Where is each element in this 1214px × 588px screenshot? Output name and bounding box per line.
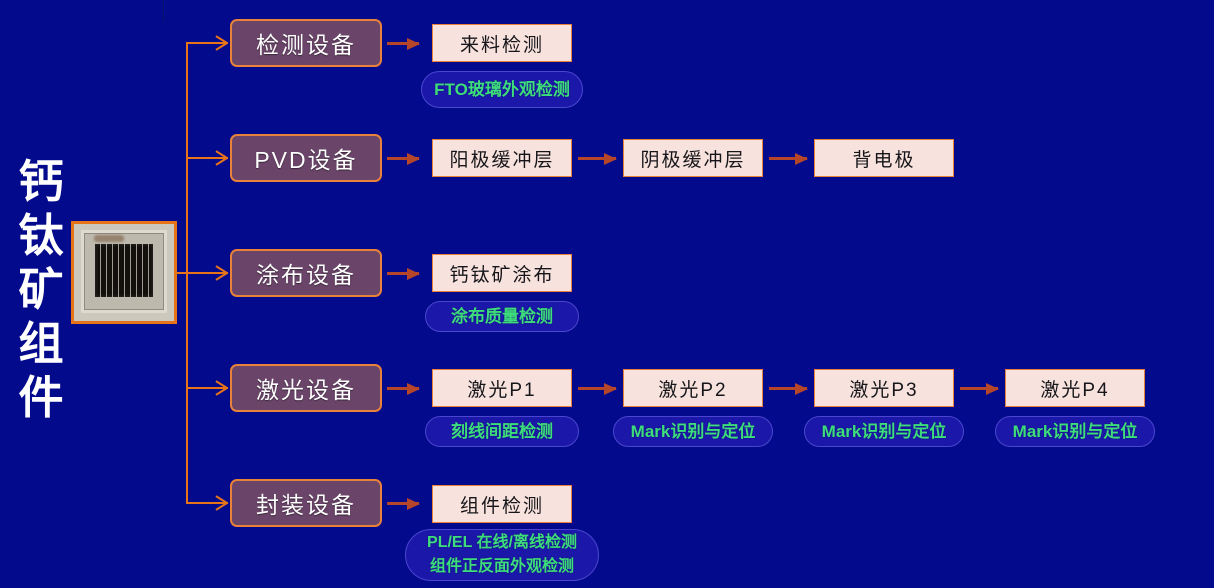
process-arrow-r2-0 <box>387 157 419 160</box>
page-title-char-1: 钙 <box>10 155 72 209</box>
process-arrow-r3-0 <box>387 272 419 275</box>
module-glass-pane <box>81 230 167 313</box>
equipment-box-inspection[interactable]: 检测设备 <box>230 19 382 67</box>
process-arrow-r4-0 <box>387 387 419 390</box>
branch-arrow-icon-4 <box>214 381 226 395</box>
process-box-r2-2[interactable]: 背电极 <box>814 139 954 177</box>
module-smudge <box>94 235 124 242</box>
process-arrow-r4-3 <box>960 387 998 390</box>
inspection-pill-r3-0[interactable]: 涂布质量检测 <box>425 301 579 332</box>
process-arrow-r5-0 <box>387 502 419 505</box>
process-arrow-r2-2 <box>769 157 807 160</box>
page-title-char-4: 组 <box>10 317 72 371</box>
equipment-box-pvd[interactable]: PVD设备 <box>230 134 382 182</box>
module-active-area <box>95 244 153 297</box>
diagram-canvas: 钙 钛 矿 组 件 检测设备 来料检测 FTO玻璃外观检测 PVD设备 阳极缓冲… <box>0 0 1214 588</box>
branch-arrow-icon-2 <box>214 151 226 165</box>
process-arrow-r2-1 <box>578 157 616 160</box>
top-hairline <box>163 0 164 22</box>
inspection-pill-r5-0[interactable]: PL/EL 在线/离线检测 组件正反面外观检测 <box>405 529 599 581</box>
process-box-r4-2[interactable]: 激光P3 <box>814 369 954 407</box>
process-arrow-r1-0 <box>387 42 419 45</box>
branch-arrow-icon-1 <box>214 36 226 50</box>
inspection-pill-r1-0[interactable]: FTO玻璃外观检测 <box>421 71 583 108</box>
inspection-pill-r4-3[interactable]: Mark识别与定位 <box>995 416 1155 447</box>
page-title: 钙 钛 矿 组 件 <box>10 155 72 425</box>
page-title-char-3: 矿 <box>10 263 72 317</box>
process-box-r5-0[interactable]: 组件检测 <box>432 485 572 523</box>
inspection-pill-r4-1[interactable]: Mark识别与定位 <box>613 416 773 447</box>
process-box-r3-0[interactable]: 钙钛矿涂布 <box>432 254 572 292</box>
perovskite-module-photo <box>71 221 177 324</box>
process-box-r4-1[interactable]: 激光P2 <box>623 369 763 407</box>
process-box-r2-1[interactable]: 阴极缓冲层 <box>623 139 763 177</box>
process-box-r4-3[interactable]: 激光P4 <box>1005 369 1145 407</box>
process-box-r4-0[interactable]: 激光P1 <box>432 369 572 407</box>
page-title-char-2: 钛 <box>10 209 72 263</box>
process-arrow-r4-1 <box>578 387 616 390</box>
branch-arrow-icon-3 <box>214 266 226 280</box>
module-scribe-lines <box>95 244 153 297</box>
page-title-char-5: 件 <box>10 371 72 425</box>
equipment-box-laser[interactable]: 激光设备 <box>230 364 382 412</box>
inspection-pill-r4-0[interactable]: 刻线间距检测 <box>425 416 579 447</box>
equipment-box-coating[interactable]: 涂布设备 <box>230 249 382 297</box>
inspection-pill-r4-2[interactable]: Mark识别与定位 <box>804 416 964 447</box>
equipment-box-encapsulation[interactable]: 封装设备 <box>230 479 382 527</box>
process-box-r2-0[interactable]: 阳极缓冲层 <box>432 139 572 177</box>
process-arrow-r4-2 <box>769 387 807 390</box>
process-box-r1-0[interactable]: 来料检测 <box>432 24 572 62</box>
branch-arrow-icon-5 <box>214 496 226 510</box>
